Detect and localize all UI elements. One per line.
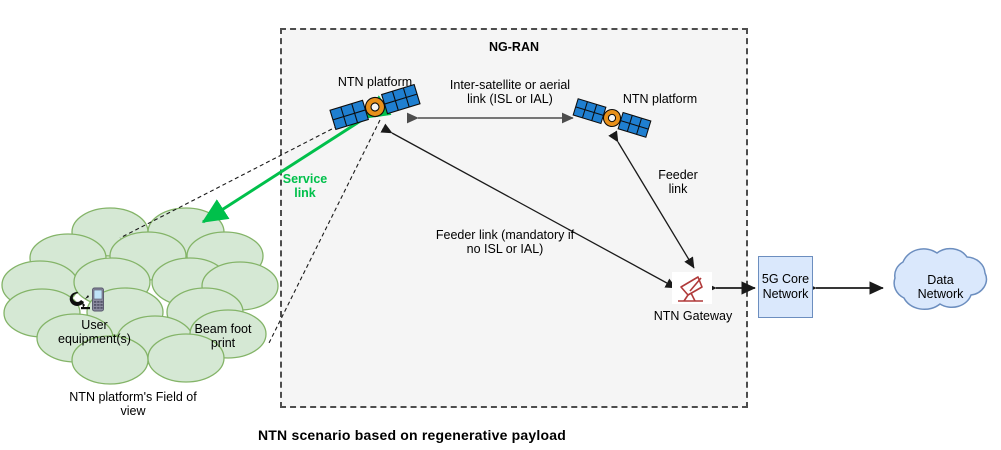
feeder-link-left-arrow bbox=[392, 133, 676, 288]
satellite-dish-icon bbox=[672, 272, 712, 304]
beam-footprint-label: Beam foot print bbox=[183, 322, 263, 350]
satellite-right-label: NTN platform bbox=[600, 92, 720, 106]
field-of-view-label: NTN platform's Field of view bbox=[48, 390, 218, 418]
feeder-link-left-label: Feeder link (mandatory if no ISL or IAL) bbox=[410, 228, 600, 256]
feeder-link-right-label: Feeder link bbox=[638, 168, 718, 196]
beam-footprint-cluster bbox=[2, 208, 278, 384]
service-link-label: Service link bbox=[270, 172, 340, 200]
core-network-node[interactable]: 5G Core Network bbox=[758, 256, 813, 318]
vector-layer bbox=[0, 0, 1001, 450]
user-equipment-label: User equipment(s) bbox=[42, 318, 147, 346]
feeder-link-right-arrow bbox=[618, 142, 694, 268]
service-link-arrow bbox=[203, 118, 365, 222]
isl-link-label: Inter-satellite or aerial link (ISL or I… bbox=[425, 78, 595, 106]
gateway-label: NTN Gateway bbox=[645, 309, 741, 323]
core-network-label: 5G Core Network bbox=[759, 272, 812, 302]
satellite-left-label: NTN platform bbox=[315, 75, 435, 89]
diagram-canvas: NG-RAN bbox=[0, 0, 1001, 450]
data-network-label: Data Network bbox=[898, 273, 983, 301]
diagram-caption: NTN scenario based on regenerative paylo… bbox=[258, 427, 566, 443]
satellite-icon bbox=[330, 85, 420, 130]
